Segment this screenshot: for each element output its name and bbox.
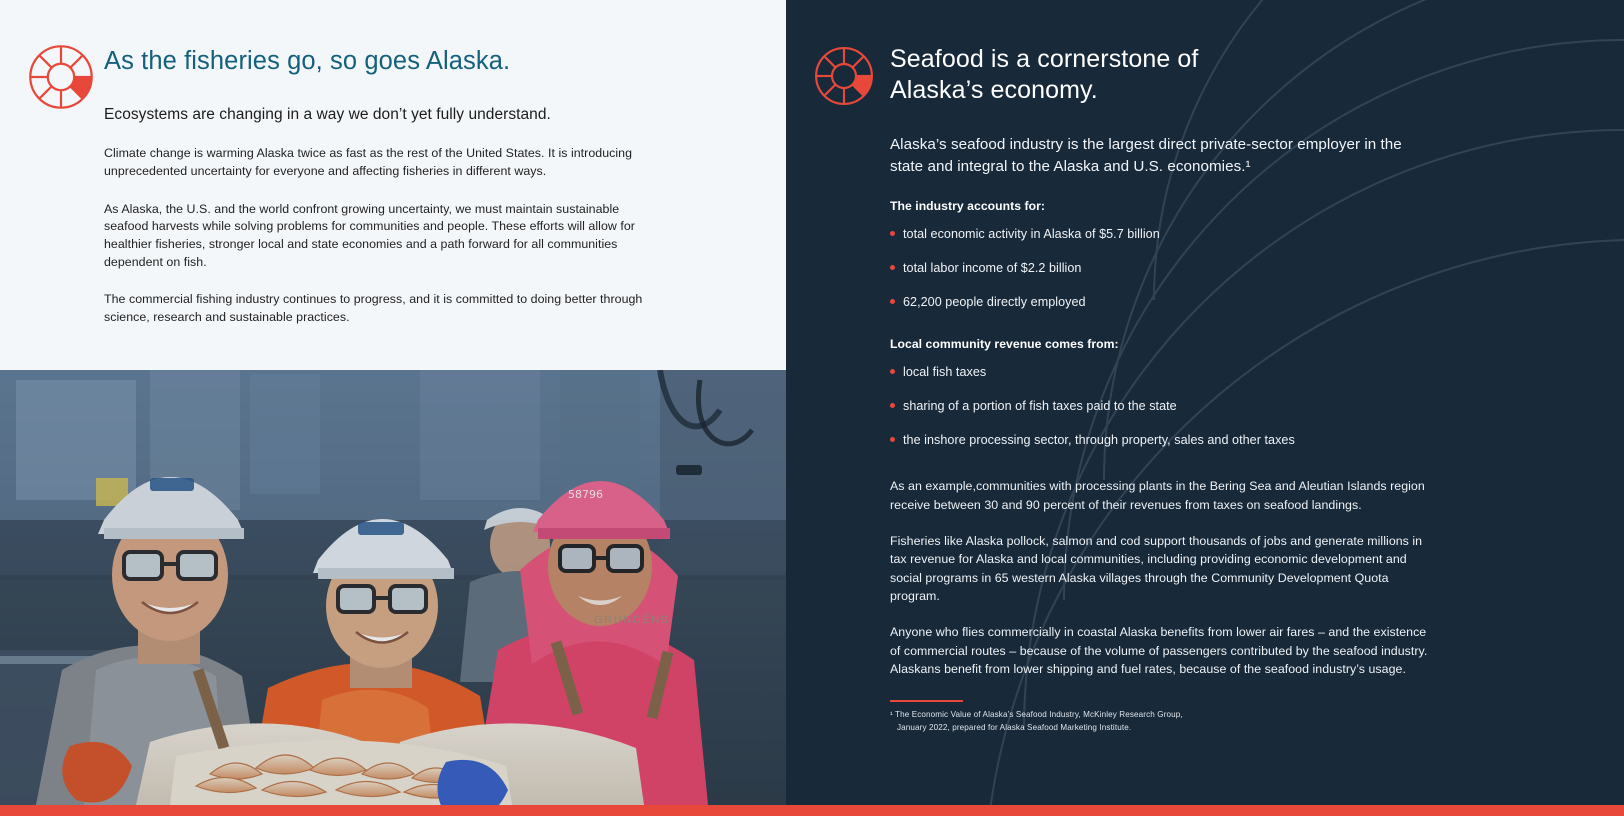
left-paragraph-3: The commercial fishing industry continue… xyxy=(104,291,664,326)
bullet-dot-icon xyxy=(890,437,895,442)
page-title-left: As the fisheries go, so goes Alaska. xyxy=(104,46,664,77)
right-paragraph-3: Anyone who flies commercially in coastal… xyxy=(890,623,1435,678)
apron-brand-text: GRUNDÉNS xyxy=(594,614,670,626)
page-title-right-line1: Seafood is a cornerstone of xyxy=(890,45,1198,73)
page-root: As the fisheries go, so goes Alaska. Eco… xyxy=(0,0,1624,816)
right-lede: Alaska’s seafood industry is the largest… xyxy=(890,134,1430,177)
footnote-line-2: January 2022, prepared for Alaska Seafoo… xyxy=(890,722,1350,735)
local-revenue-bullet-list: local fish taxes sharing of a portion of… xyxy=(890,364,1435,449)
list-item: total economic activity in Alaska of $5.… xyxy=(890,226,1435,243)
life-ring-icon xyxy=(28,44,94,110)
right-paragraph-1: As an example,communities with processin… xyxy=(890,477,1435,514)
footnote-text: ¹ The Economic Value of Alaska’s Seafood… xyxy=(890,709,1350,735)
right-body-block: The industry accounts for: total economi… xyxy=(890,198,1435,678)
section-heading-industry: The industry accounts for: xyxy=(890,198,1435,215)
spacer xyxy=(890,311,1435,336)
life-ring-icon xyxy=(814,46,874,106)
page-title-right: Seafood is a cornerstone of Alaska’s eco… xyxy=(890,44,1410,106)
list-item-label: 62,200 people directly employed xyxy=(903,295,1086,309)
list-item: 62,200 people directly employed xyxy=(890,294,1435,311)
right-panel: Seafood is a cornerstone of Alaska’s eco… xyxy=(786,0,1624,816)
left-text-block: As the fisheries go, so goes Alaska. Eco… xyxy=(104,46,664,326)
section-heading-local-revenue: Local community revenue comes from: xyxy=(890,336,1435,353)
industry-bullet-list: total economic activity in Alaska of $5.… xyxy=(890,226,1435,311)
left-paragraph-1: Climate change is warming Alaska twice a… xyxy=(104,145,664,180)
left-panel: As the fisheries go, so goes Alaska. Eco… xyxy=(0,0,786,816)
bullet-dot-icon xyxy=(890,231,895,236)
list-item-label: sharing of a portion of fish taxes paid … xyxy=(903,399,1177,413)
bullet-dot-icon xyxy=(890,369,895,374)
list-item: sharing of a portion of fish taxes paid … xyxy=(890,398,1435,415)
list-item: local fish taxes xyxy=(890,364,1435,381)
spacer xyxy=(890,449,1435,477)
list-item-label: the inshore processing sector, through p… xyxy=(903,433,1295,447)
seafood-processing-workers-photo: 58796 GRUNDÉNS xyxy=(0,370,786,805)
bullet-dot-icon xyxy=(890,299,895,304)
left-lede: Ecosystems are changing in a way we don’… xyxy=(104,104,664,125)
list-item-label: total labor income of $2.2 billion xyxy=(903,261,1081,275)
list-item: total labor income of $2.2 billion xyxy=(890,260,1435,277)
bottom-accent-bar xyxy=(0,805,1624,816)
left-paragraph-2: As Alaska, the U.S. and the world confro… xyxy=(104,201,664,271)
list-item: the inshore processing sector, through p… xyxy=(890,432,1435,449)
list-item-label: total economic activity in Alaska of $5.… xyxy=(903,227,1160,241)
footnote-line-1: ¹ The Economic Value of Alaska’s Seafood… xyxy=(890,710,1183,719)
list-item-label: local fish taxes xyxy=(903,365,986,379)
footnote: ¹ The Economic Value of Alaska’s Seafood… xyxy=(890,700,1350,734)
bullet-dot-icon xyxy=(890,403,895,408)
right-content: Seafood is a cornerstone of Alaska’s eco… xyxy=(786,0,1624,816)
footnote-rule xyxy=(890,700,963,702)
page-title-right-line2: Alaska’s economy. xyxy=(890,76,1098,104)
bullet-dot-icon xyxy=(890,265,895,270)
right-paragraph-2: Fisheries like Alaska pollock, salmon an… xyxy=(890,532,1435,605)
